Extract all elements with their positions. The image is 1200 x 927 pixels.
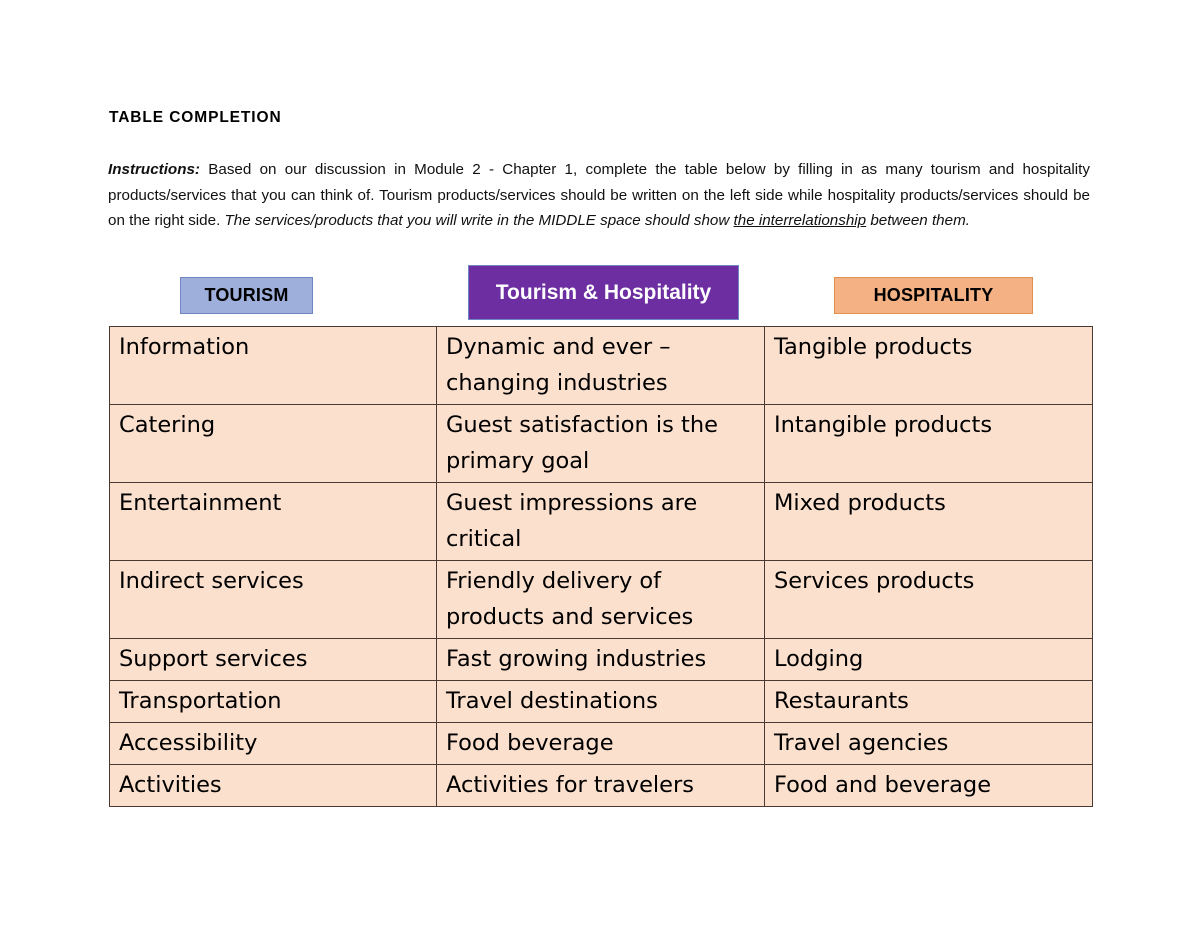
cell-interrelationship[interactable]: Guest impressions are critical bbox=[437, 483, 765, 561]
cell-text: Mixed products bbox=[774, 485, 1085, 521]
cell-interrelationship[interactable]: Friendly delivery of products and servic… bbox=[437, 561, 765, 639]
completion-table: Information Dynamic and ever – changing … bbox=[109, 326, 1093, 807]
cell-hospitality[interactable]: Lodging bbox=[765, 639, 1093, 681]
instructions-paragraph: Instructions: Based on our discussion in… bbox=[108, 157, 1090, 234]
page-title: TABLE COMPLETION bbox=[109, 108, 282, 128]
cell-hospitality[interactable]: Mixed products bbox=[765, 483, 1093, 561]
cell-tourism[interactable]: Support services bbox=[110, 639, 437, 681]
cell-text: Fast growing industries bbox=[446, 641, 757, 677]
cell-text: Guest impressions are critical bbox=[446, 485, 757, 557]
cell-interrelationship[interactable]: Guest satisfaction is the primary goal bbox=[437, 405, 765, 483]
cell-text: Support services bbox=[119, 641, 429, 677]
table-row: Entertainment Guest impressions are crit… bbox=[110, 483, 1093, 561]
cell-interrelationship[interactable]: Activities for travelers bbox=[437, 765, 765, 807]
header-chip-middle-label: Tourism & Hospitality bbox=[496, 281, 711, 305]
cell-text: Travel destinations bbox=[446, 683, 757, 719]
cell-text: Activities for travelers bbox=[446, 767, 757, 803]
table-row: Support services Fast growing industries… bbox=[110, 639, 1093, 681]
cell-tourism[interactable]: Indirect services bbox=[110, 561, 437, 639]
header-chip-hospitality: HOSPITALITY bbox=[834, 277, 1033, 314]
cell-tourism[interactable]: Activities bbox=[110, 765, 437, 807]
table-row: Accessibility Food beverage Travel agenc… bbox=[110, 723, 1093, 765]
cell-text: Accessibility bbox=[119, 725, 429, 761]
cell-text: Tangible products bbox=[774, 329, 1085, 365]
cell-text: Travel agencies bbox=[774, 725, 1085, 761]
cell-hospitality[interactable]: Services products bbox=[765, 561, 1093, 639]
cell-interrelationship[interactable]: Food beverage bbox=[437, 723, 765, 765]
cell-text: Catering bbox=[119, 407, 429, 443]
cell-text: Friendly delivery of products and servic… bbox=[446, 563, 757, 635]
table-row: Activities Activities for travelers Food… bbox=[110, 765, 1093, 807]
cell-hospitality[interactable]: Tangible products bbox=[765, 327, 1093, 405]
table-row: Catering Guest satisfaction is the prima… bbox=[110, 405, 1093, 483]
cell-text: Guest satisfaction is the primary goal bbox=[446, 407, 757, 479]
cell-tourism[interactable]: Transportation bbox=[110, 681, 437, 723]
instructions-underlined-phrase: the interrelationship bbox=[734, 212, 867, 229]
cell-interrelationship[interactable]: Fast growing industries bbox=[437, 639, 765, 681]
cell-text: Transportation bbox=[119, 683, 429, 719]
instructions-label: Instructions: bbox=[108, 161, 200, 178]
cell-tourism[interactable]: Entertainment bbox=[110, 483, 437, 561]
cell-hospitality[interactable]: Travel agencies bbox=[765, 723, 1093, 765]
header-chip-tourism-and-hospitality: Tourism & Hospitality bbox=[468, 265, 739, 320]
cell-text: Activities bbox=[119, 767, 429, 803]
cell-tourism[interactable]: Catering bbox=[110, 405, 437, 483]
header-chip-tourism-label: TOURISM bbox=[204, 285, 288, 306]
header-chip-tourism: TOURISM bbox=[180, 277, 313, 314]
instructions-italic-tail: between them. bbox=[866, 212, 970, 229]
document-page: TABLE COMPLETION Instructions: Based on … bbox=[0, 0, 1200, 927]
cell-text: Lodging bbox=[774, 641, 1085, 677]
cell-text: Restaurants bbox=[774, 683, 1085, 719]
table-row: Information Dynamic and ever – changing … bbox=[110, 327, 1093, 405]
cell-text: Services products bbox=[774, 563, 1085, 599]
cell-interrelationship[interactable]: Travel destinations bbox=[437, 681, 765, 723]
table-row: Indirect services Friendly delivery of p… bbox=[110, 561, 1093, 639]
table-row: Transportation Travel destinations Resta… bbox=[110, 681, 1093, 723]
completion-table-body: Information Dynamic and ever – changing … bbox=[110, 327, 1093, 807]
cell-hospitality[interactable]: Intangible products bbox=[765, 405, 1093, 483]
header-chip-hospitality-label: HOSPITALITY bbox=[874, 285, 994, 306]
cell-text: Intangible products bbox=[774, 407, 1085, 443]
cell-tourism[interactable]: Accessibility bbox=[110, 723, 437, 765]
cell-text: Dynamic and ever – changing industries bbox=[446, 329, 757, 401]
instructions-italic-text: The services/products that you will writ… bbox=[225, 212, 734, 229]
cell-text: Indirect services bbox=[119, 563, 429, 599]
cell-text: Information bbox=[119, 329, 429, 365]
cell-text: Entertainment bbox=[119, 485, 429, 521]
cell-hospitality[interactable]: Restaurants bbox=[765, 681, 1093, 723]
cell-tourism[interactable]: Information bbox=[110, 327, 437, 405]
cell-text: Food and beverage bbox=[774, 767, 1085, 803]
cell-hospitality[interactable]: Food and beverage bbox=[765, 765, 1093, 807]
cell-interrelationship[interactable]: Dynamic and ever – changing industries bbox=[437, 327, 765, 405]
cell-text: Food beverage bbox=[446, 725, 757, 761]
